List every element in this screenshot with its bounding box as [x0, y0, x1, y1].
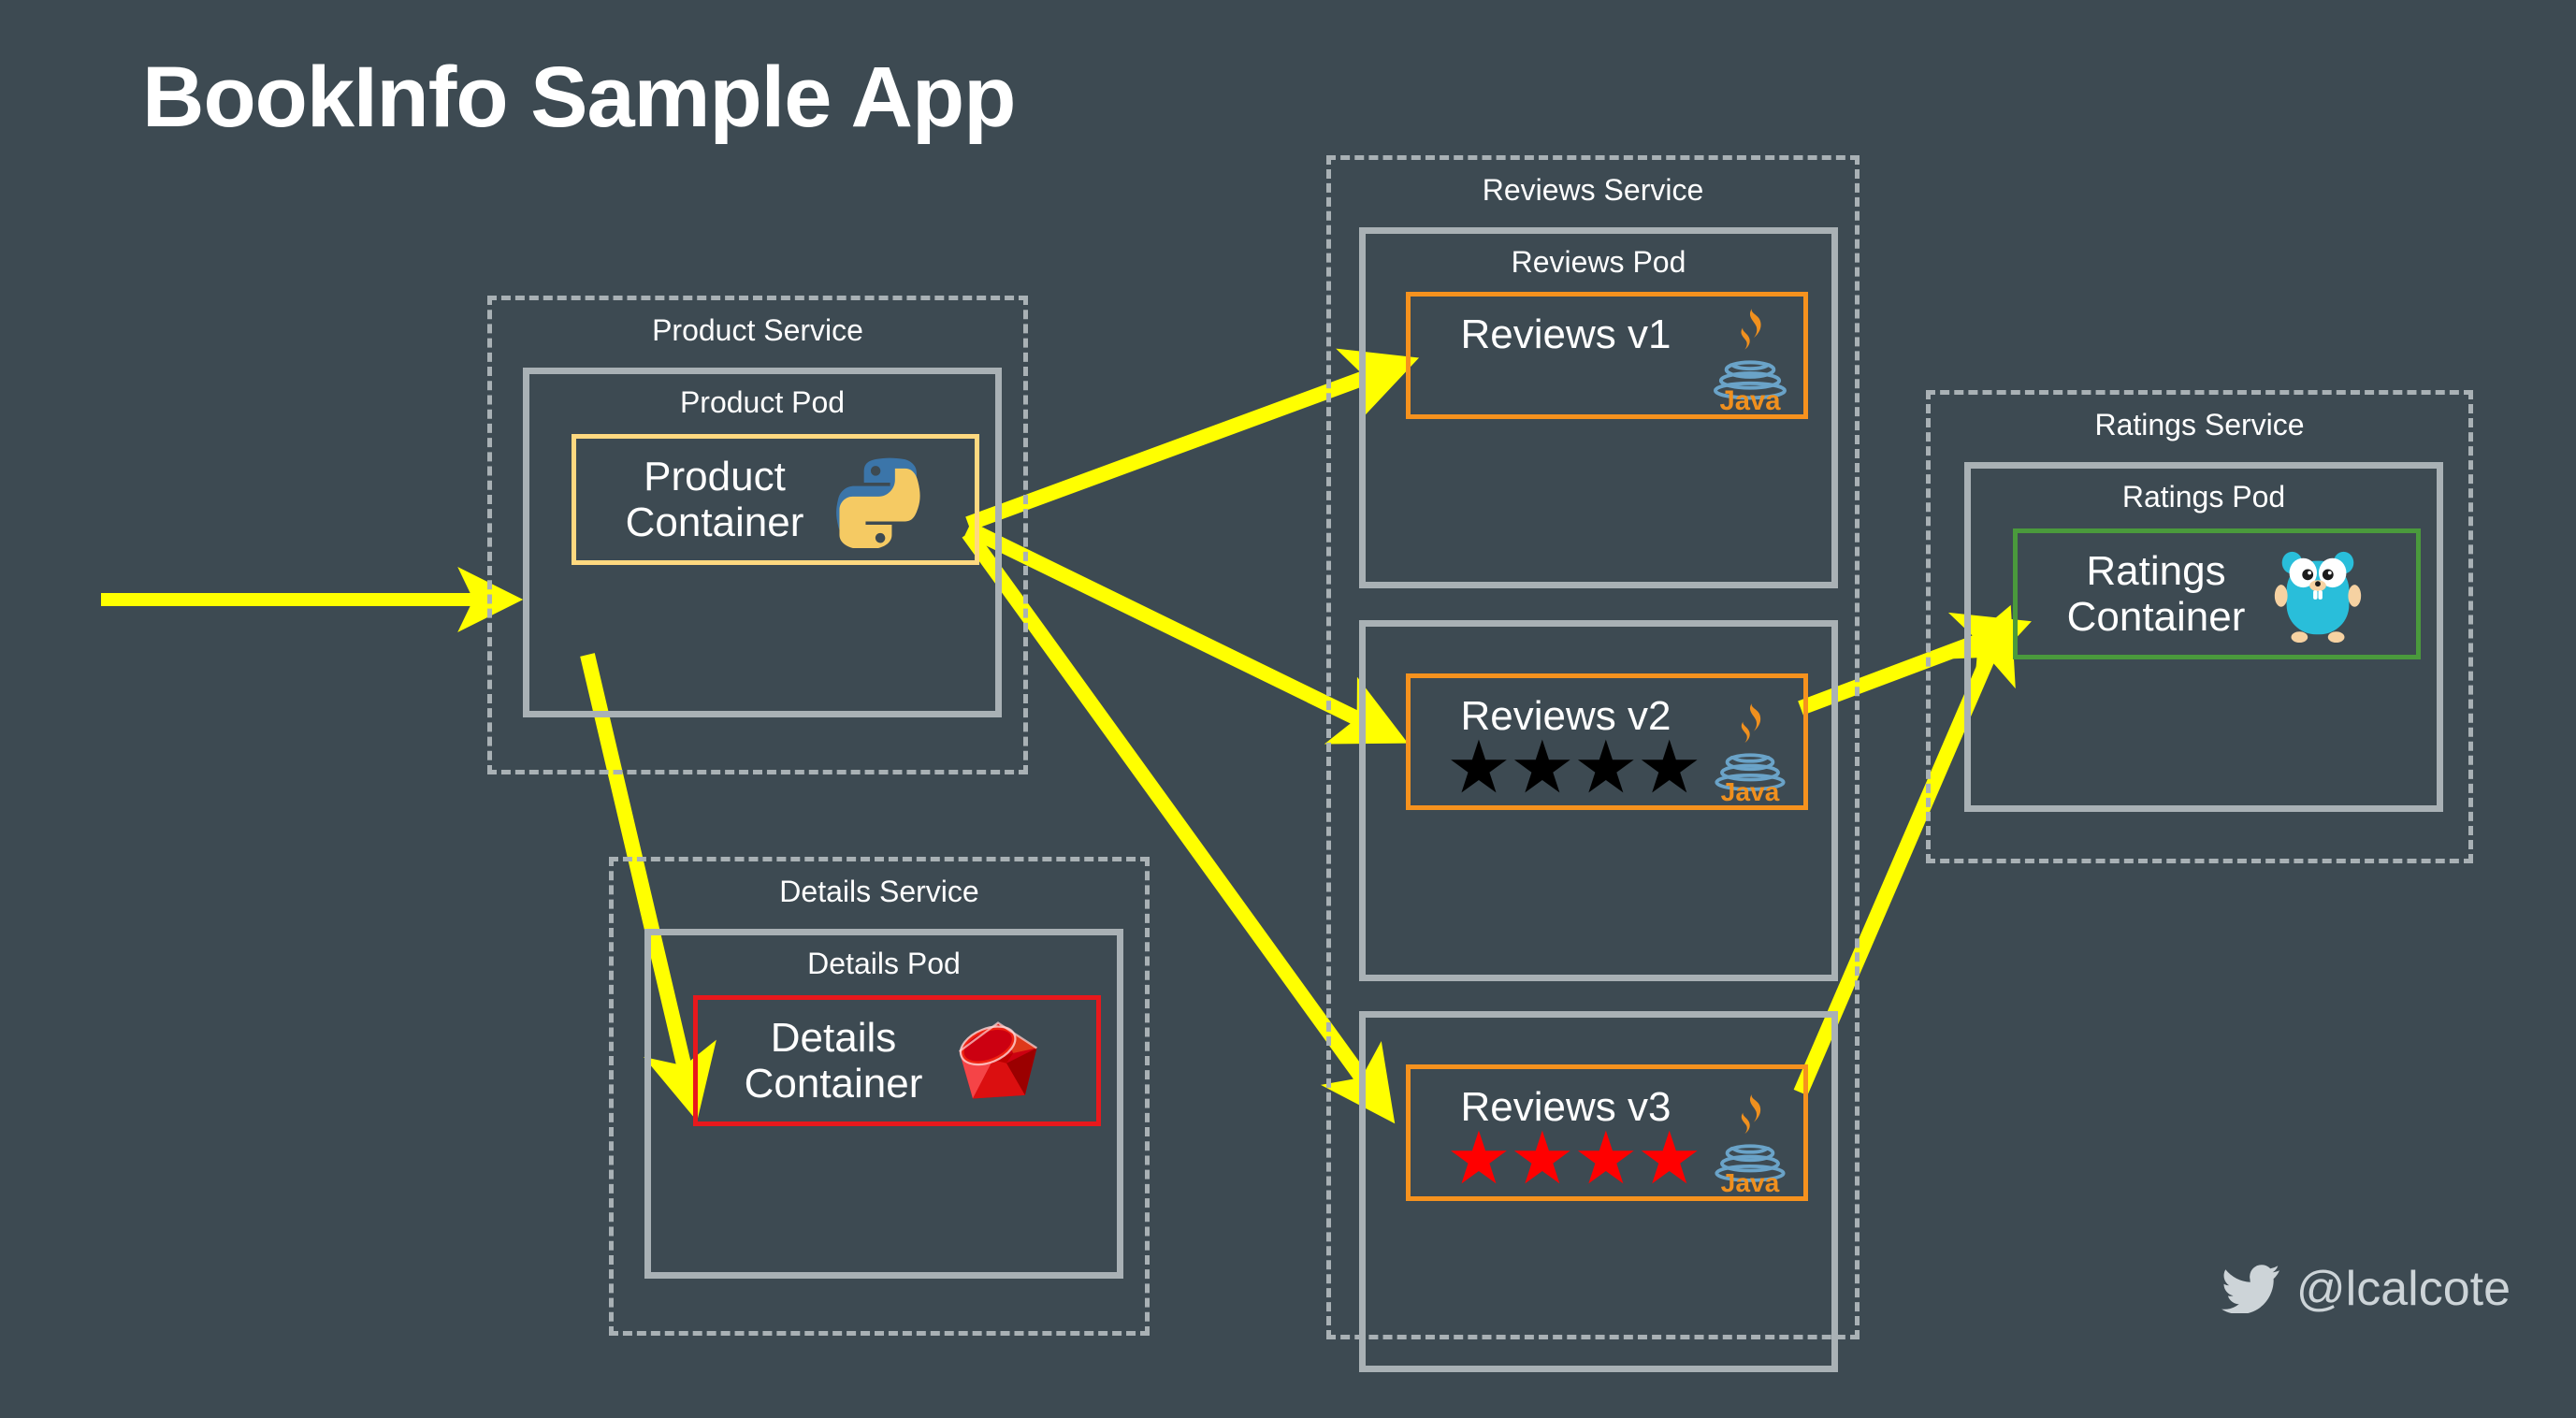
details-pod-label: Details Pod: [651, 947, 1117, 981]
details-pod-box[interactable]: Details Pod Details Container: [644, 929, 1123, 1279]
twitter-credit[interactable]: @lcalcote: [2221, 1261, 2511, 1317]
reviews-service-label: Reviews Service: [1331, 173, 1855, 208]
page-title: BookInfo Sample App: [142, 49, 1015, 147]
product-service-box[interactable]: Product Service Product Pod Product Cont…: [487, 296, 1028, 774]
reviews-pod-box-v3[interactable]: Reviews v3 ★★★★ Java: [1359, 1011, 1838, 1372]
java-logo: Java: [1704, 306, 1796, 411]
java-logo-text: Java: [1721, 776, 1780, 802]
java-logo-text: Java: [1720, 386, 1782, 411]
product-service-label: Product Service: [492, 313, 1023, 348]
reviews-v2-star-rating: ★★★★: [1446, 731, 1700, 803]
ratings-container-box[interactable]: Ratings Container: [2013, 528, 2421, 659]
diagram-canvas: BookInfo Sample App: [0, 0, 2576, 1418]
ratings-service-label: Ratings Service: [1931, 408, 2468, 442]
reviews-v3-star-rating: ★★★★: [1446, 1121, 1700, 1194]
ratings-service-box[interactable]: Ratings Service Ratings Pod Ratings Cont…: [1926, 390, 2473, 863]
product-container-label: Product Container: [626, 454, 804, 546]
twitter-handle-text: @lcalcote: [2296, 1261, 2511, 1317]
java-logo: Java: [1704, 701, 1796, 802]
twitter-bird-icon: [2221, 1265, 2279, 1313]
java-logo-text: Java: [1721, 1167, 1780, 1193]
reviews-v1-container-box[interactable]: Reviews v1 Java: [1406, 292, 1808, 419]
go-gopher-logo: [2269, 543, 2366, 645]
details-service-label: Details Service: [614, 875, 1145, 909]
java-logo: Java: [1704, 1092, 1796, 1193]
reviews-pod-box-v2[interactable]: Reviews v2 ★★★★ Java: [1359, 620, 1838, 981]
reviews-v2-container-box[interactable]: Reviews v2 ★★★★ Java: [1406, 673, 1808, 810]
python-logo: [824, 451, 925, 548]
ratings-container-label: Ratings Container: [2067, 548, 2246, 641]
details-container-box[interactable]: Details Container: [693, 995, 1101, 1126]
product-pod-box[interactable]: Product Pod Product Container: [523, 368, 1002, 717]
reviews-service-box[interactable]: Reviews Service Reviews Pod Reviews v1: [1326, 155, 1860, 1339]
reviews-v3-container-box[interactable]: Reviews v3 ★★★★ Java: [1406, 1064, 1808, 1201]
reviews-pod-box-v1[interactable]: Reviews Pod Reviews v1 Java: [1359, 227, 1838, 588]
ruby-logo: [947, 1014, 1049, 1107]
details-service-box[interactable]: Details Service Details Pod Details Cont…: [609, 857, 1150, 1336]
product-container-box[interactable]: Product Container: [572, 434, 979, 565]
product-pod-label: Product Pod: [529, 385, 995, 420]
arrow-product-to-reviews-v1: [968, 372, 1380, 524]
ratings-pod-label: Ratings Pod: [1971, 480, 2437, 514]
arrow-product-to-reviews-v2: [968, 528, 1370, 725]
details-container-label: Details Container: [745, 1015, 923, 1107]
reviews-pod-label: Reviews Pod: [1366, 245, 1831, 280]
ratings-pod-box[interactable]: Ratings Pod Ratings Container: [1964, 462, 2443, 812]
